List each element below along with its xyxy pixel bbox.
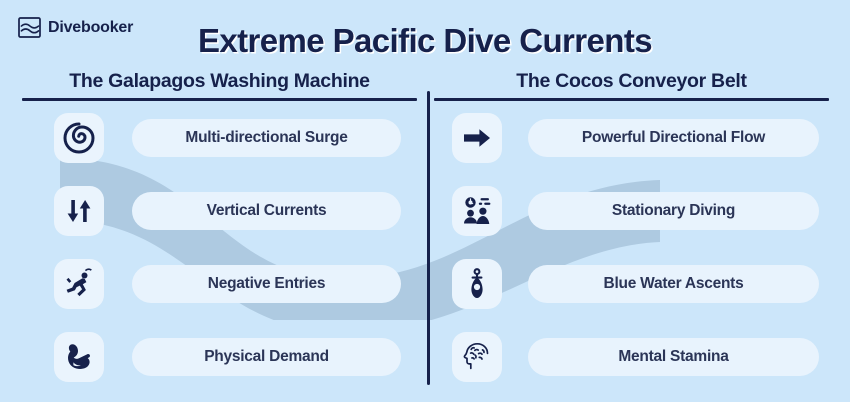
list-item-label: Physical Demand	[132, 338, 401, 376]
page-title: Extreme Pacific Dive Currents	[0, 22, 850, 60]
list-item[interactable]: Negative Entries	[22, 256, 417, 312]
list-item-label: Negative Entries	[132, 265, 401, 303]
list-item-label: Multi-directional Surge	[132, 119, 401, 157]
column-heading-rule	[22, 98, 417, 101]
list-item-label: Blue Water Ascents	[528, 265, 819, 303]
list-item-label: Vertical Currents	[132, 192, 401, 230]
column-heading-galapagos: The Galapagos Washing Machine	[22, 70, 417, 98]
list-item[interactable]: Powerful Directional Flow	[434, 110, 829, 166]
dive-buoy-icon	[452, 259, 502, 309]
list-item[interactable]: Mental Stamina	[434, 329, 829, 385]
head-brain-icon	[452, 332, 502, 382]
spiral-swirl-icon	[54, 113, 104, 163]
list-item[interactable]: Blue Water Ascents	[434, 256, 829, 312]
list-item-label: Powerful Directional Flow	[528, 119, 819, 157]
list-item[interactable]: Stationary Diving	[434, 183, 829, 239]
list-item-label: Mental Stamina	[528, 338, 819, 376]
list-item[interactable]: Vertical Currents	[22, 183, 417, 239]
column-heading-rule	[434, 98, 829, 101]
scuba-diver-icon	[54, 259, 104, 309]
up-down-arrows-icon	[54, 186, 104, 236]
infographic-canvas: Divebooker Extreme Pacific Dive Currents…	[0, 0, 850, 400]
column-heading-cocos: The Cocos Conveyor Belt	[434, 70, 829, 98]
list-item[interactable]: Physical Demand	[22, 329, 417, 385]
list-item-label: Stationary Diving	[528, 192, 819, 230]
column-divider	[427, 91, 430, 385]
people-motion-icon	[452, 186, 502, 236]
right-arrow-icon	[452, 113, 502, 163]
column-galapagos: The Galapagos Washing Machine Multi-dire…	[22, 70, 417, 402]
list-item[interactable]: Multi-directional Surge	[22, 110, 417, 166]
column-cocos: The Cocos Conveyor Belt Powerful Directi…	[434, 70, 829, 402]
flexed-biceps-icon	[54, 332, 104, 382]
